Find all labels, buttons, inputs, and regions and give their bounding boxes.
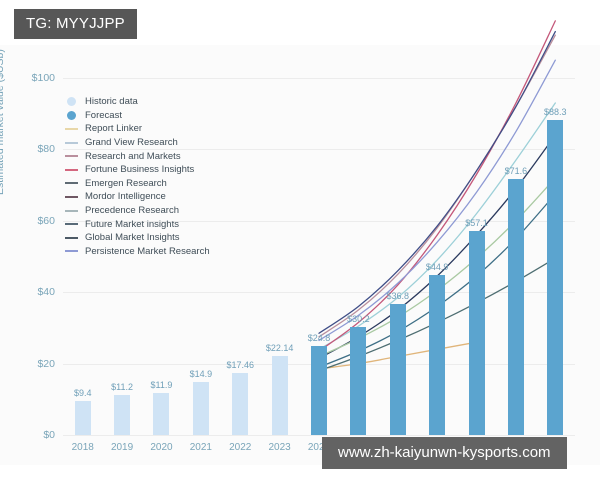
legend-item-precedence-research[interactable]: Precedence Research — [64, 204, 210, 218]
legend-label: Research and Markets — [85, 151, 181, 162]
bar-value-label-2021: $14.9 — [179, 369, 223, 379]
legend-dot-icon — [64, 111, 78, 120]
legend-label: Persistence Market Research — [85, 246, 210, 257]
gridline — [63, 435, 575, 436]
bar-value-label-2026: $36.8 — [376, 291, 420, 301]
bar-2028[interactable] — [469, 231, 485, 435]
bar-value-label-2024: $24.8 — [297, 333, 341, 343]
y-axis-tick-label: $40 — [15, 286, 55, 298]
chart-legend: Historic dataForecastReport LinkerGrand … — [64, 95, 210, 258]
legend-line-icon — [64, 196, 78, 198]
legend-marker — [65, 155, 78, 157]
y-axis-tick-label: $20 — [15, 358, 55, 370]
x-axis-tick-2021: 2021 — [181, 442, 221, 453]
legend-item-grand-view-research[interactable]: Grand View Research — [64, 136, 210, 150]
bar-value-label-2030: $88.3 — [533, 107, 577, 117]
legend-label: Grand View Research — [85, 137, 178, 148]
site-watermark: www.zh-kaiyunwn-kysports.com — [322, 437, 567, 469]
legend-line-icon — [64, 169, 78, 171]
legend-marker — [65, 182, 78, 184]
legend-line-icon — [64, 250, 78, 252]
legend-marker — [65, 237, 78, 239]
legend-label: Historic data — [85, 96, 138, 107]
legend-line-icon — [64, 155, 78, 157]
bar-value-label-2019: $11.2 — [100, 382, 144, 392]
legend-marker — [65, 196, 78, 198]
y-axis-tick-label: $0 — [15, 429, 55, 441]
bar-value-label-2029: $71.6 — [494, 166, 538, 176]
bar-value-label-2018: $9.4 — [61, 388, 105, 398]
legend-marker — [65, 128, 78, 130]
gridline — [63, 292, 575, 293]
legend-dot-icon — [64, 97, 78, 106]
bar-2027[interactable] — [429, 275, 445, 435]
bar-2018[interactable] — [75, 401, 91, 435]
legend-label: Mordor Intelligence — [85, 191, 166, 202]
legend-line-icon — [64, 128, 78, 130]
y-axis-tick-label: $100 — [15, 72, 55, 84]
x-axis-tick-2018: 2018 — [63, 442, 103, 453]
x-axis-tick-2019: 2019 — [102, 442, 142, 453]
legend-line-icon — [64, 142, 78, 144]
legend-item-mordor-intelligence[interactable]: Mordor Intelligence — [64, 190, 210, 204]
legend-label: Report Linker — [85, 123, 142, 134]
bar-2024[interactable] — [311, 346, 327, 435]
bar-2019[interactable] — [114, 395, 130, 435]
legend-marker — [65, 210, 78, 212]
legend-line-icon — [64, 210, 78, 212]
legend-label: Emergen Research — [85, 178, 167, 189]
bar-2021[interactable] — [193, 382, 209, 435]
legend-marker — [65, 142, 78, 144]
bar-value-label-2023: $22.14 — [258, 343, 302, 353]
legend-item-emergen-research[interactable]: Emergen Research — [64, 177, 210, 191]
chart-card: Estimated market value ($USb) $0$20$40$6… — [0, 45, 600, 465]
legend-line-icon — [64, 182, 78, 184]
bar-2020[interactable] — [153, 393, 169, 435]
legend-marker — [67, 111, 76, 120]
legend-item-historic-data[interactable]: Historic data — [64, 95, 210, 109]
bar-value-label-2027: $44.9 — [415, 262, 459, 272]
legend-label: Forecast — [85, 110, 122, 121]
x-axis-tick-2022: 2022 — [220, 442, 260, 453]
legend-marker — [67, 97, 76, 106]
x-axis-tick-2023: 2023 — [260, 442, 300, 453]
bar-value-label-2020: $11.9 — [139, 380, 183, 390]
legend-item-research-and-markets[interactable]: Research and Markets — [64, 149, 210, 163]
bar-2029[interactable] — [508, 179, 524, 435]
legend-line-icon — [64, 223, 78, 225]
legend-item-fortune-business-insights[interactable]: Fortune Business Insights — [64, 163, 210, 177]
bar-2026[interactable] — [390, 304, 406, 435]
legend-item-forecast[interactable]: Forecast — [64, 109, 210, 123]
legend-label: Global Market Insights — [85, 232, 180, 243]
legend-item-report-linker[interactable]: Report Linker — [64, 122, 210, 136]
bar-value-label-2028: $57.1 — [455, 218, 499, 228]
tg-tag-overlay: TG: MYYJJPP — [14, 9, 137, 39]
bar-value-label-2025: $30.2 — [336, 314, 380, 324]
y-axis-tick-label: $60 — [15, 215, 55, 227]
legend-item-future-market-insights[interactable]: Future Market insights — [64, 217, 210, 231]
legend-line-icon — [64, 237, 78, 239]
y-axis-title: Estimated market value ($USb) — [0, 49, 6, 195]
legend-item-global-market-insights[interactable]: Global Market Insights — [64, 231, 210, 245]
legend-label: Fortune Business Insights — [85, 164, 194, 175]
legend-marker — [65, 223, 78, 225]
bar-2025[interactable] — [350, 327, 366, 435]
y-axis-tick-label: $80 — [15, 143, 55, 155]
gridline — [63, 78, 575, 79]
bar-2023[interactable] — [272, 356, 288, 435]
bar-value-label-2022: $17.46 — [218, 360, 262, 370]
x-axis-tick-2020: 2020 — [141, 442, 181, 453]
legend-label: Future Market insights — [85, 219, 179, 230]
legend-label: Precedence Research — [85, 205, 179, 216]
bar-2030[interactable] — [547, 120, 563, 435]
legend-marker — [65, 250, 78, 252]
legend-marker — [65, 169, 78, 171]
legend-item-persistence-market-research[interactable]: Persistence Market Research — [64, 245, 210, 259]
bar-2022[interactable] — [232, 373, 248, 435]
